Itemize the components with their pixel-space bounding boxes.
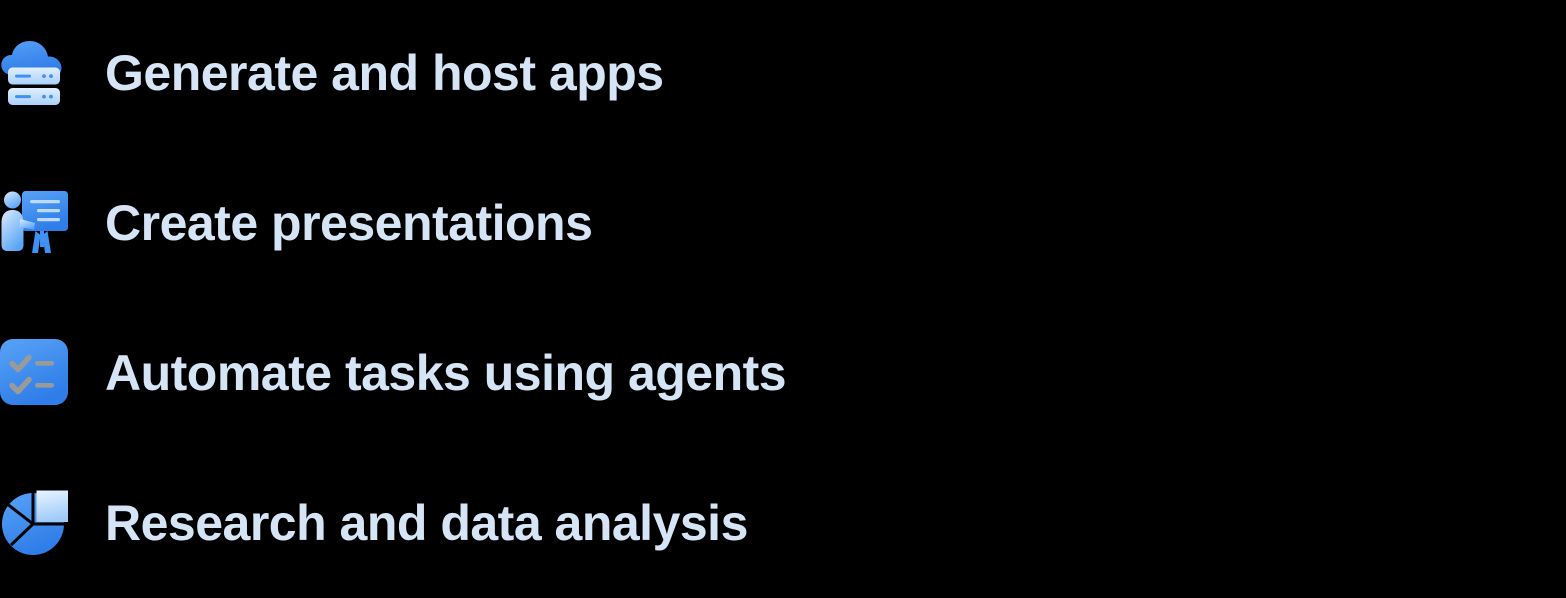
feature-row[interactable]: Automate tasks using agents — [0, 298, 1566, 448]
pie-chart-icon — [0, 487, 72, 559]
checklist-icon — [0, 337, 72, 409]
feature-label: Create presentations — [105, 198, 592, 248]
feature-label: Automate tasks using agents — [105, 348, 786, 398]
feature-label: Generate and host apps — [105, 48, 664, 98]
capability-list: Generate and host apps — [0, 0, 1566, 540]
feature-label: Research and data analysis — [105, 498, 748, 548]
presenter-board-icon — [0, 187, 72, 259]
feature-row[interactable]: Research and data analysis — [0, 448, 1566, 598]
feature-row[interactable]: Generate and host apps — [0, 0, 1566, 148]
feature-row[interactable]: Create presentations — [0, 148, 1566, 298]
cloud-server-icon — [0, 37, 72, 109]
